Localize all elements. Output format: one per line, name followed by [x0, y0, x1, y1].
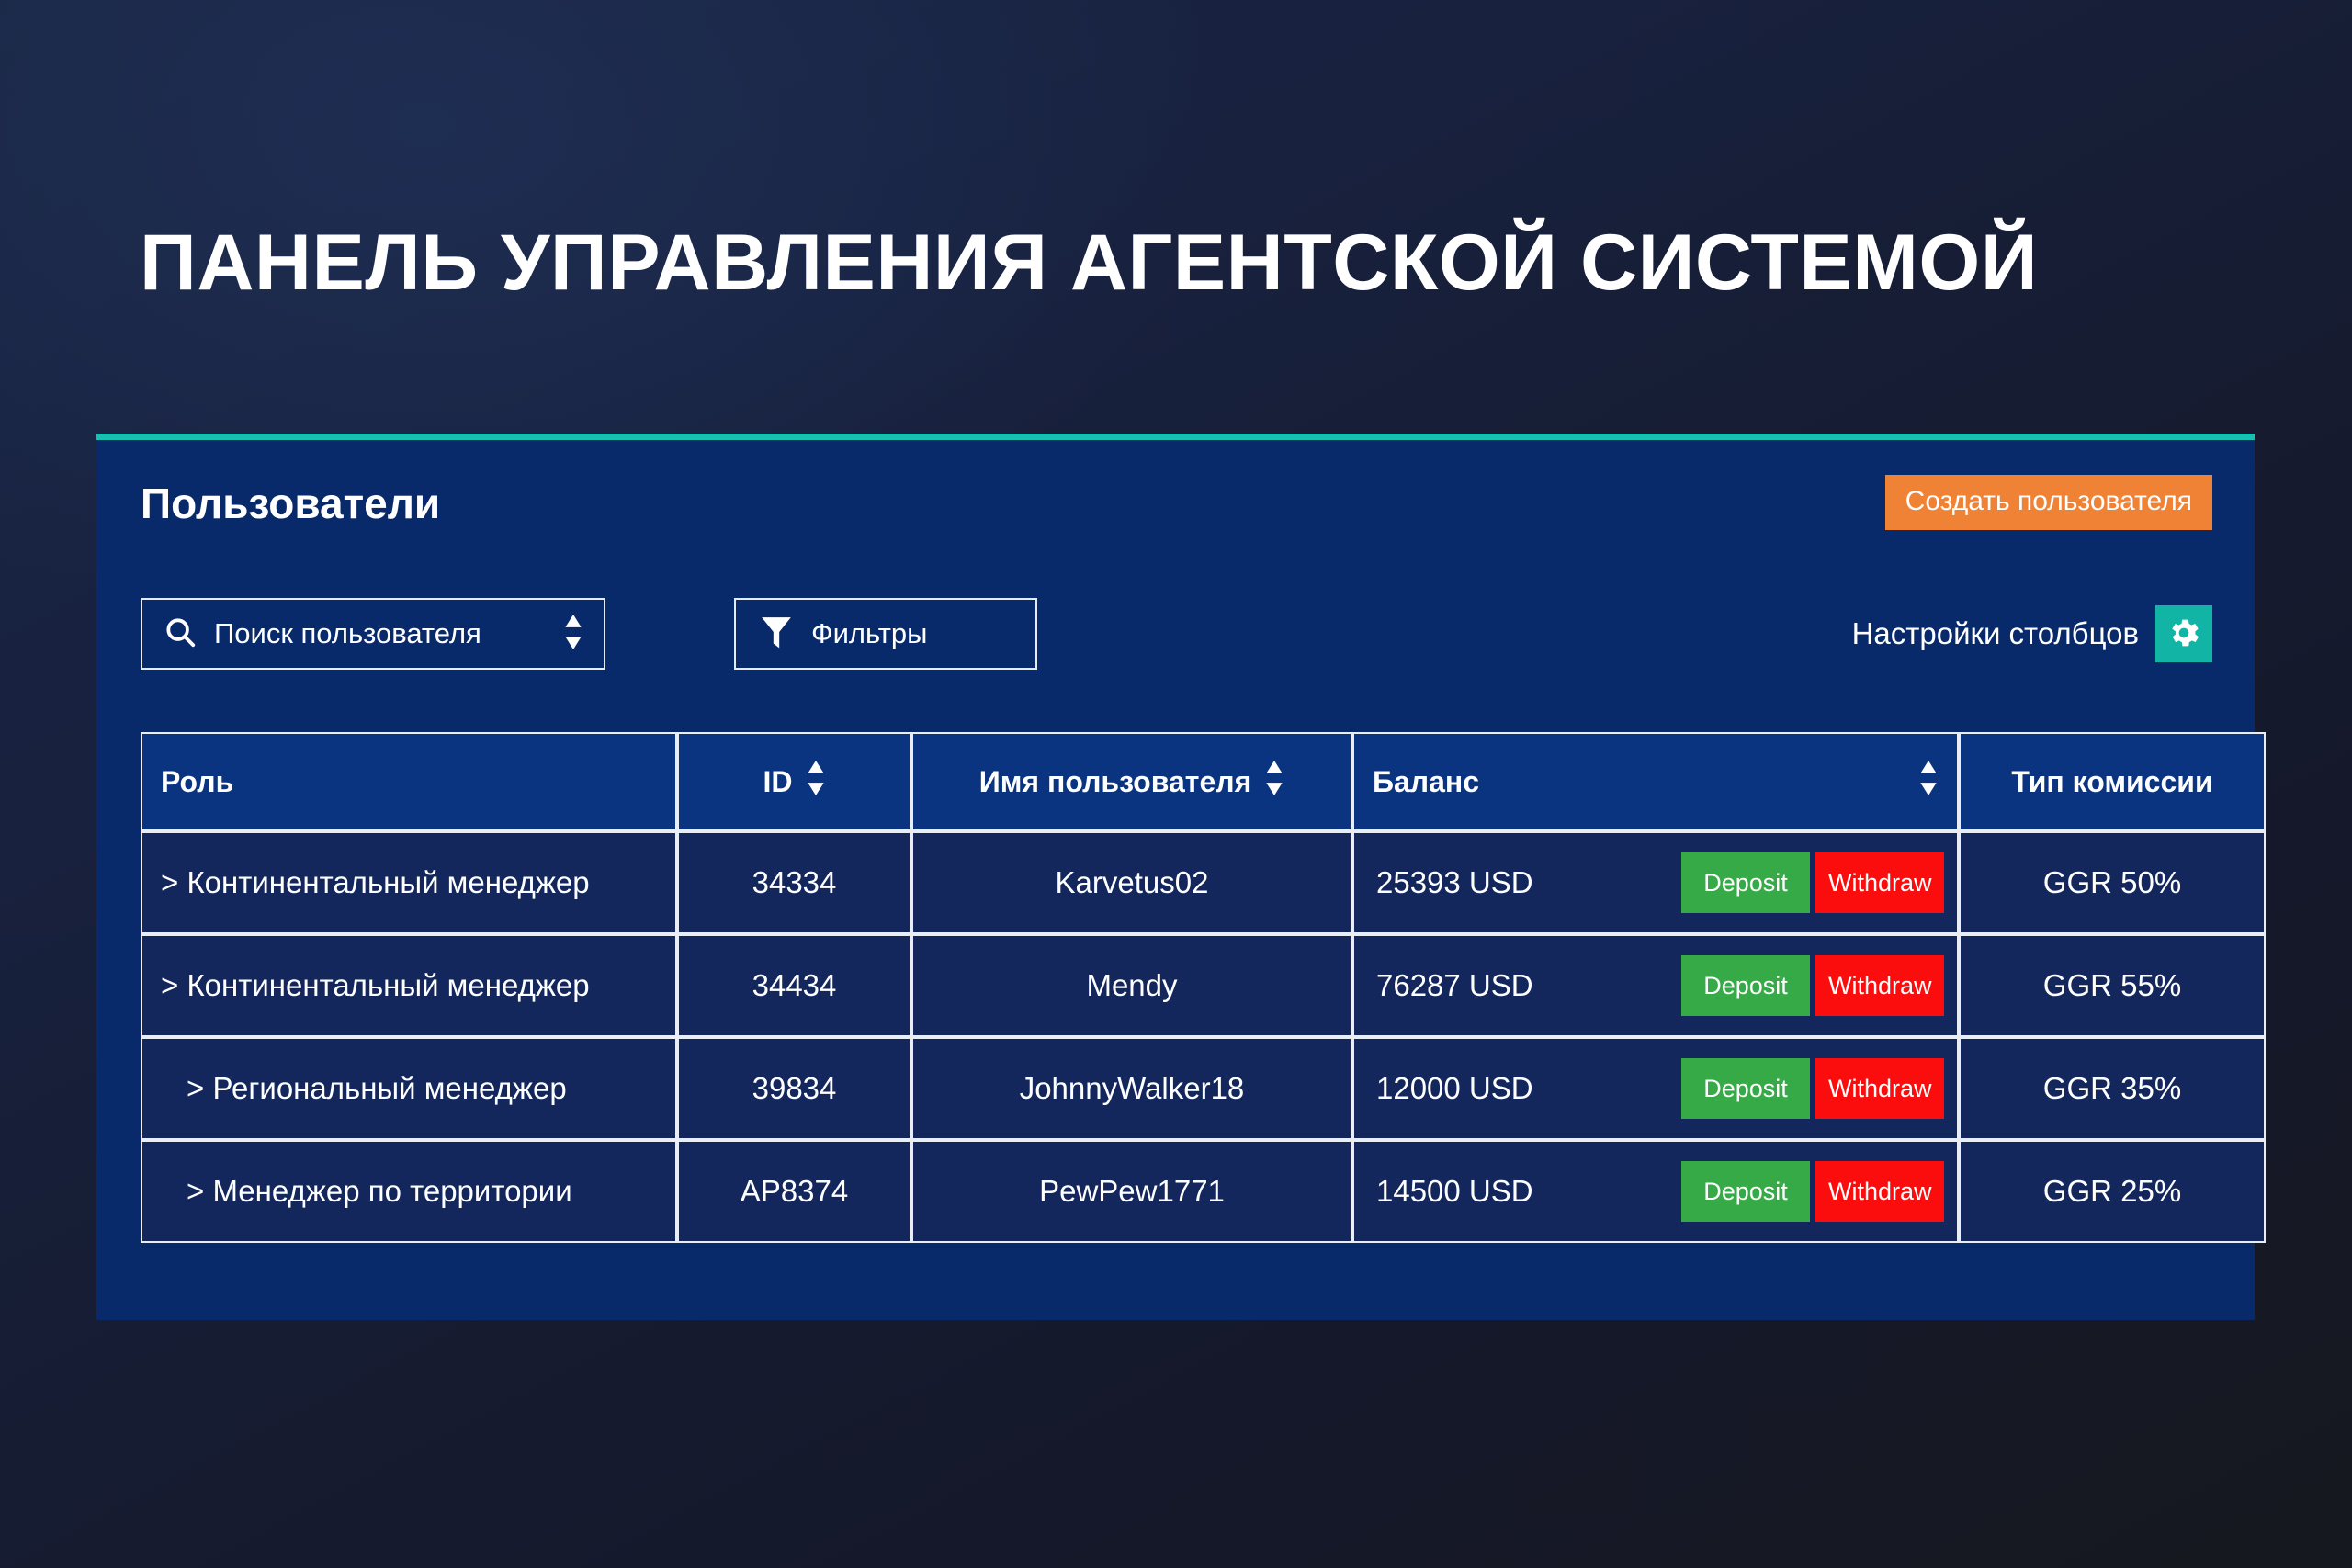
- cell-role[interactable]: > Региональный менеджер: [141, 1037, 677, 1140]
- cell-fee-type: GGR 55%: [1959, 934, 2266, 1037]
- search-input[interactable]: Поиск пользователя: [141, 598, 605, 670]
- table-body: > Континентальный менеджер 34334 Karvetu…: [141, 831, 2266, 1243]
- column-header-id-label: ID: [763, 765, 793, 799]
- cell-username: PewPew1771: [911, 1140, 1352, 1243]
- deposit-button[interactable]: Deposit: [1681, 955, 1810, 1016]
- create-user-button[interactable]: Создать пользователя: [1885, 475, 2212, 530]
- panel-heading: Пользователи: [141, 479, 440, 528]
- column-settings[interactable]: Настройки столбцов: [1852, 598, 2212, 670]
- table-row[interactable]: > Континентальный менеджер 34434 Mendy 7…: [141, 934, 2266, 1037]
- sort-updown-icon[interactable]: [1918, 761, 1939, 803]
- column-header-role[interactable]: Роль: [141, 732, 677, 831]
- cell-role[interactable]: > Континентальный менеджер: [141, 831, 677, 934]
- withdraw-button[interactable]: Withdraw: [1815, 1058, 1944, 1119]
- balance-amount: 14500 USD: [1367, 1174, 1533, 1209]
- column-header-fee-type-label: Тип комиссии: [2011, 765, 2212, 799]
- column-header-role-label: Роль: [161, 765, 233, 799]
- cell-balance: 12000 USD Deposit Withdraw: [1352, 1037, 1959, 1140]
- cell-username: Mendy: [911, 934, 1352, 1037]
- column-settings-label: Настройки столбцов: [1852, 616, 2139, 651]
- table-header: Роль ID Имя пользователя: [141, 732, 2266, 831]
- balance-amount: 25393 USD: [1367, 865, 1533, 900]
- table-row[interactable]: > Континентальный менеджер 34334 Karvetu…: [141, 831, 2266, 934]
- cell-balance: 76287 USD Deposit Withdraw: [1352, 934, 1959, 1037]
- search-icon: [163, 615, 198, 654]
- cell-username: JohnnyWalker18: [911, 1037, 1352, 1140]
- cell-role[interactable]: > Менеджер по территории: [141, 1140, 677, 1243]
- gear-icon: [2165, 615, 2202, 654]
- users-table: Роль ID Имя пользователя: [141, 732, 2266, 1243]
- withdraw-button[interactable]: Withdraw: [1815, 1161, 1944, 1222]
- table-header-row: Роль ID Имя пользователя: [141, 732, 2266, 831]
- cell-balance: 14500 USD Deposit Withdraw: [1352, 1140, 1959, 1243]
- users-panel: Пользователи Создать пользователя Поиск …: [96, 434, 2255, 1320]
- cell-fee-type: GGR 35%: [1959, 1037, 2266, 1140]
- table-row[interactable]: > Менеджер по территории AP8374 PewPew17…: [141, 1140, 2266, 1243]
- column-header-username[interactable]: Имя пользователя: [911, 732, 1352, 831]
- cell-id: 34434: [677, 934, 911, 1037]
- deposit-button[interactable]: Deposit: [1681, 852, 1810, 913]
- column-header-fee-type[interactable]: Тип комиссии: [1959, 732, 2266, 831]
- balance-amount: 12000 USD: [1367, 1071, 1533, 1106]
- cell-id: 39834: [677, 1037, 911, 1140]
- column-header-balance[interactable]: Баланс: [1352, 732, 1959, 831]
- sort-updown-icon[interactable]: [806, 761, 826, 803]
- column-header-username-label: Имя пользователя: [979, 765, 1251, 799]
- cell-id: 34334: [677, 831, 911, 934]
- page-title: ПАНЕЛЬ УПРАВЛЕНИЯ АГЕНТСКОЙ СИСТЕМОЙ: [140, 223, 2234, 302]
- withdraw-button[interactable]: Withdraw: [1815, 852, 1944, 913]
- cell-role[interactable]: > Континентальный менеджер: [141, 934, 677, 1037]
- cell-balance: 25393 USD Deposit Withdraw: [1352, 831, 1959, 934]
- cell-username: Karvetus02: [911, 831, 1352, 934]
- filters-button[interactable]: Фильтры: [734, 598, 1037, 670]
- gear-button[interactable]: [2155, 605, 2212, 662]
- balance-amount: 76287 USD: [1367, 968, 1533, 1003]
- withdraw-button[interactable]: Withdraw: [1815, 955, 1944, 1016]
- cell-fee-type: GGR 25%: [1959, 1140, 2266, 1243]
- filter-funnel-icon: [760, 615, 793, 654]
- cell-id: AP8374: [677, 1140, 911, 1243]
- column-header-balance-label: Баланс: [1373, 765, 1479, 799]
- sort-updown-icon[interactable]: [563, 615, 583, 654]
- deposit-button[interactable]: Deposit: [1681, 1058, 1810, 1119]
- sort-updown-icon[interactable]: [1264, 761, 1284, 803]
- column-header-id[interactable]: ID: [677, 732, 911, 831]
- deposit-button[interactable]: Deposit: [1681, 1161, 1810, 1222]
- cell-fee-type: GGR 50%: [1959, 831, 2266, 934]
- filters-label: Фильтры: [811, 617, 927, 650]
- search-placeholder: Поиск пользователя: [214, 617, 563, 650]
- table-row[interactable]: > Региональный менеджер 39834 JohnnyWalk…: [141, 1037, 2266, 1140]
